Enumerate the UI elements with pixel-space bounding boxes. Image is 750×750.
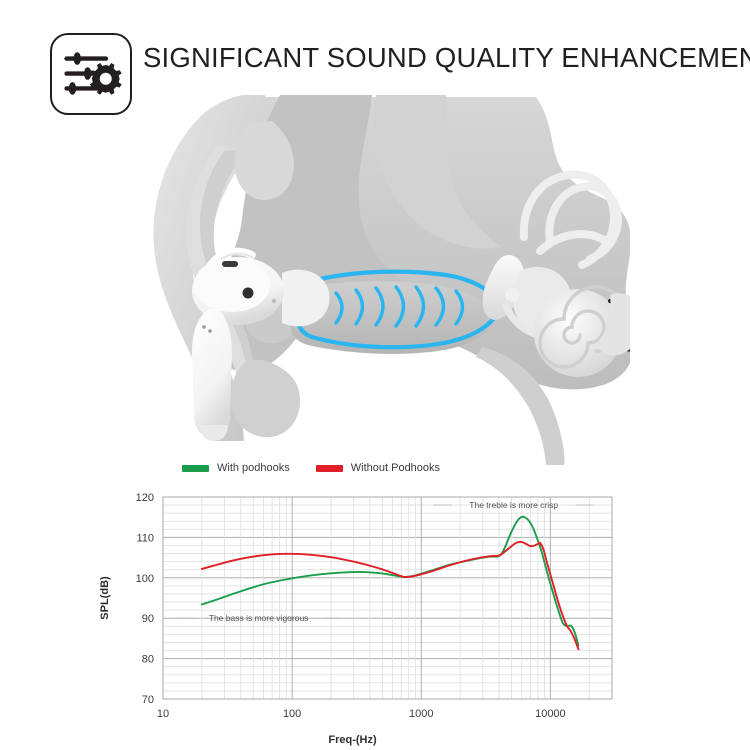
y-tick-label: 90 bbox=[142, 613, 154, 625]
chart-annotation: The bass is more vigorous bbox=[209, 613, 309, 623]
chart-plot-area: The bass is more vigorousThe treble is m… bbox=[0, 452, 750, 750]
y-tick-label: 80 bbox=[142, 654, 154, 666]
y-tick-label: 110 bbox=[136, 532, 154, 544]
x-axis-label: Freq-(Hz) bbox=[328, 734, 377, 746]
x-axis-ticks: 10100100010000 bbox=[157, 708, 566, 720]
chart-annotation: The treble is more crisp bbox=[469, 500, 558, 510]
y-axis-ticks: 708090100110120 bbox=[136, 492, 154, 706]
y-tick-label: 120 bbox=[136, 492, 154, 504]
ear-anatomy-with-earbud bbox=[140, 95, 630, 465]
x-tick-label: 10 bbox=[157, 708, 169, 720]
x-tick-label: 1000 bbox=[409, 708, 433, 720]
y-axis-label: SPL(dB) bbox=[99, 576, 111, 620]
promo-page: SIGNIFICANT SOUND QUALITY ENHANCEMENT bbox=[0, 0, 750, 750]
x-tick-label: 10000 bbox=[535, 708, 566, 720]
frequency-response-chart: With podhooks Without Podhooks The bass … bbox=[0, 452, 750, 750]
y-tick-label: 100 bbox=[136, 573, 154, 585]
page-title: SIGNIFICANT SOUND QUALITY ENHANCEMENT bbox=[143, 38, 743, 78]
grid-minor bbox=[163, 497, 612, 699]
x-tick-label: 100 bbox=[283, 708, 301, 720]
equalizer-gear-icon bbox=[50, 33, 132, 115]
y-tick-label: 70 bbox=[142, 694, 154, 706]
